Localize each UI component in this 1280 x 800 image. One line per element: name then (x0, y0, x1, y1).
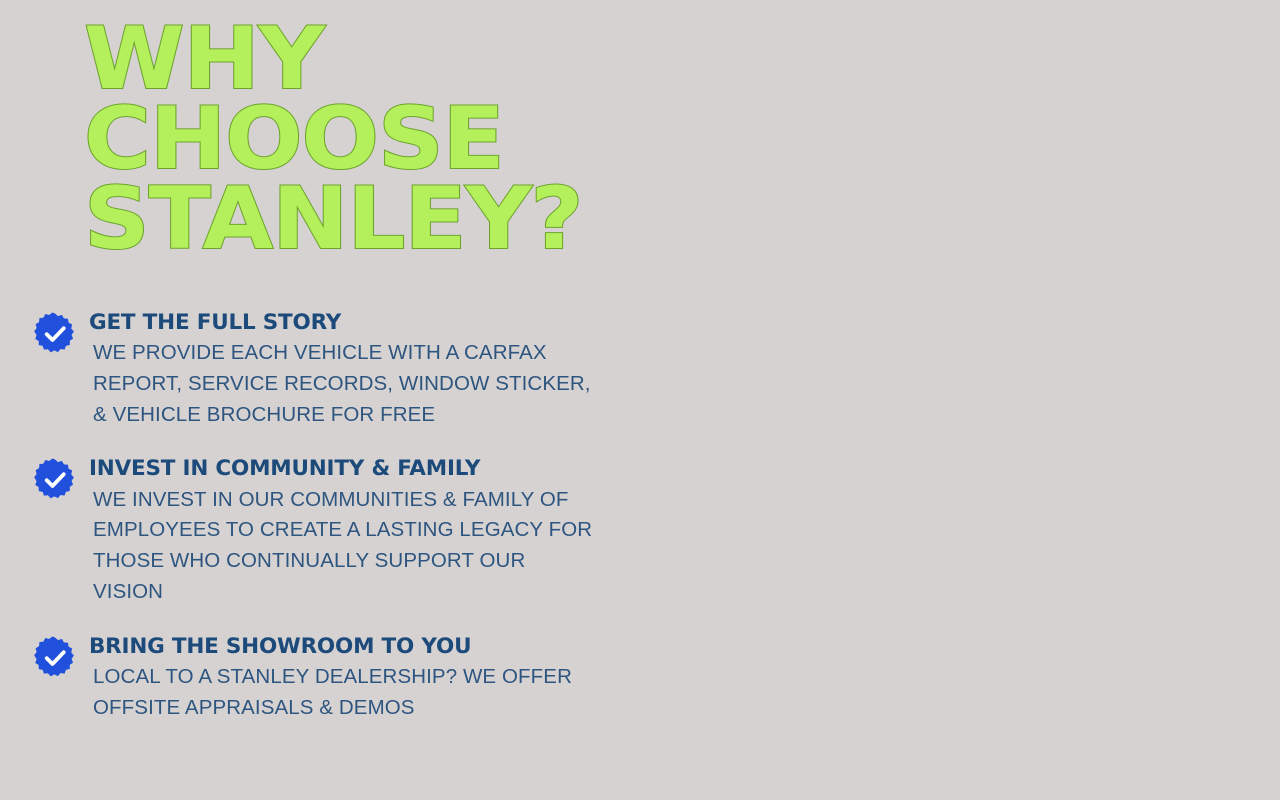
check-badge-icon (33, 636, 77, 680)
poster-root: WHY CHOOSE STANLEY? GET THE FULL STORY W… (0, 0, 1280, 800)
feature-item-get-the-full-story: GET THE FULL STORY WE PROVIDE EACH VEHIC… (33, 310, 600, 430)
feature-item-invest-in-community-and-family: INVEST IN COMMUNITY & FAMILY WE INVEST I… (33, 456, 600, 607)
feature-title: GET THE FULL STORY (89, 310, 600, 336)
check-badge-icon (33, 312, 77, 356)
check-badge-icon (33, 458, 77, 502)
feature-title: INVEST IN COMMUNITY & FAMILY (89, 456, 600, 482)
feature-title: BRING THE SHOWROOM TO YOU (89, 634, 600, 660)
feature-item-bring-the-showroom-to-you: BRING THE SHOWROOM TO YOU LOCAL TO A STA… (33, 634, 600, 724)
left-feature-list: GET THE FULL STORY WE PROVIDE EACH VEHIC… (0, 310, 640, 749)
left-column: WHY CHOOSE STANLEY? GET THE FULL STORY W… (0, 0, 640, 800)
page-title: WHY CHOOSE STANLEY? (84, 20, 635, 260)
feature-body: LOCAL TO A STANLEY DEALERSHIP? WE OFFER … (89, 662, 600, 724)
right-column: NO HIDDEN DEALER FEES NO ADDENDUMS, ADD … (640, 0, 1280, 800)
feature-body: WE INVEST IN OUR COMMUNITIES & FAMILY OF… (89, 485, 600, 608)
feature-body: WE PROVIDE EACH VEHICLE WITH A CARFAX RE… (89, 338, 600, 430)
